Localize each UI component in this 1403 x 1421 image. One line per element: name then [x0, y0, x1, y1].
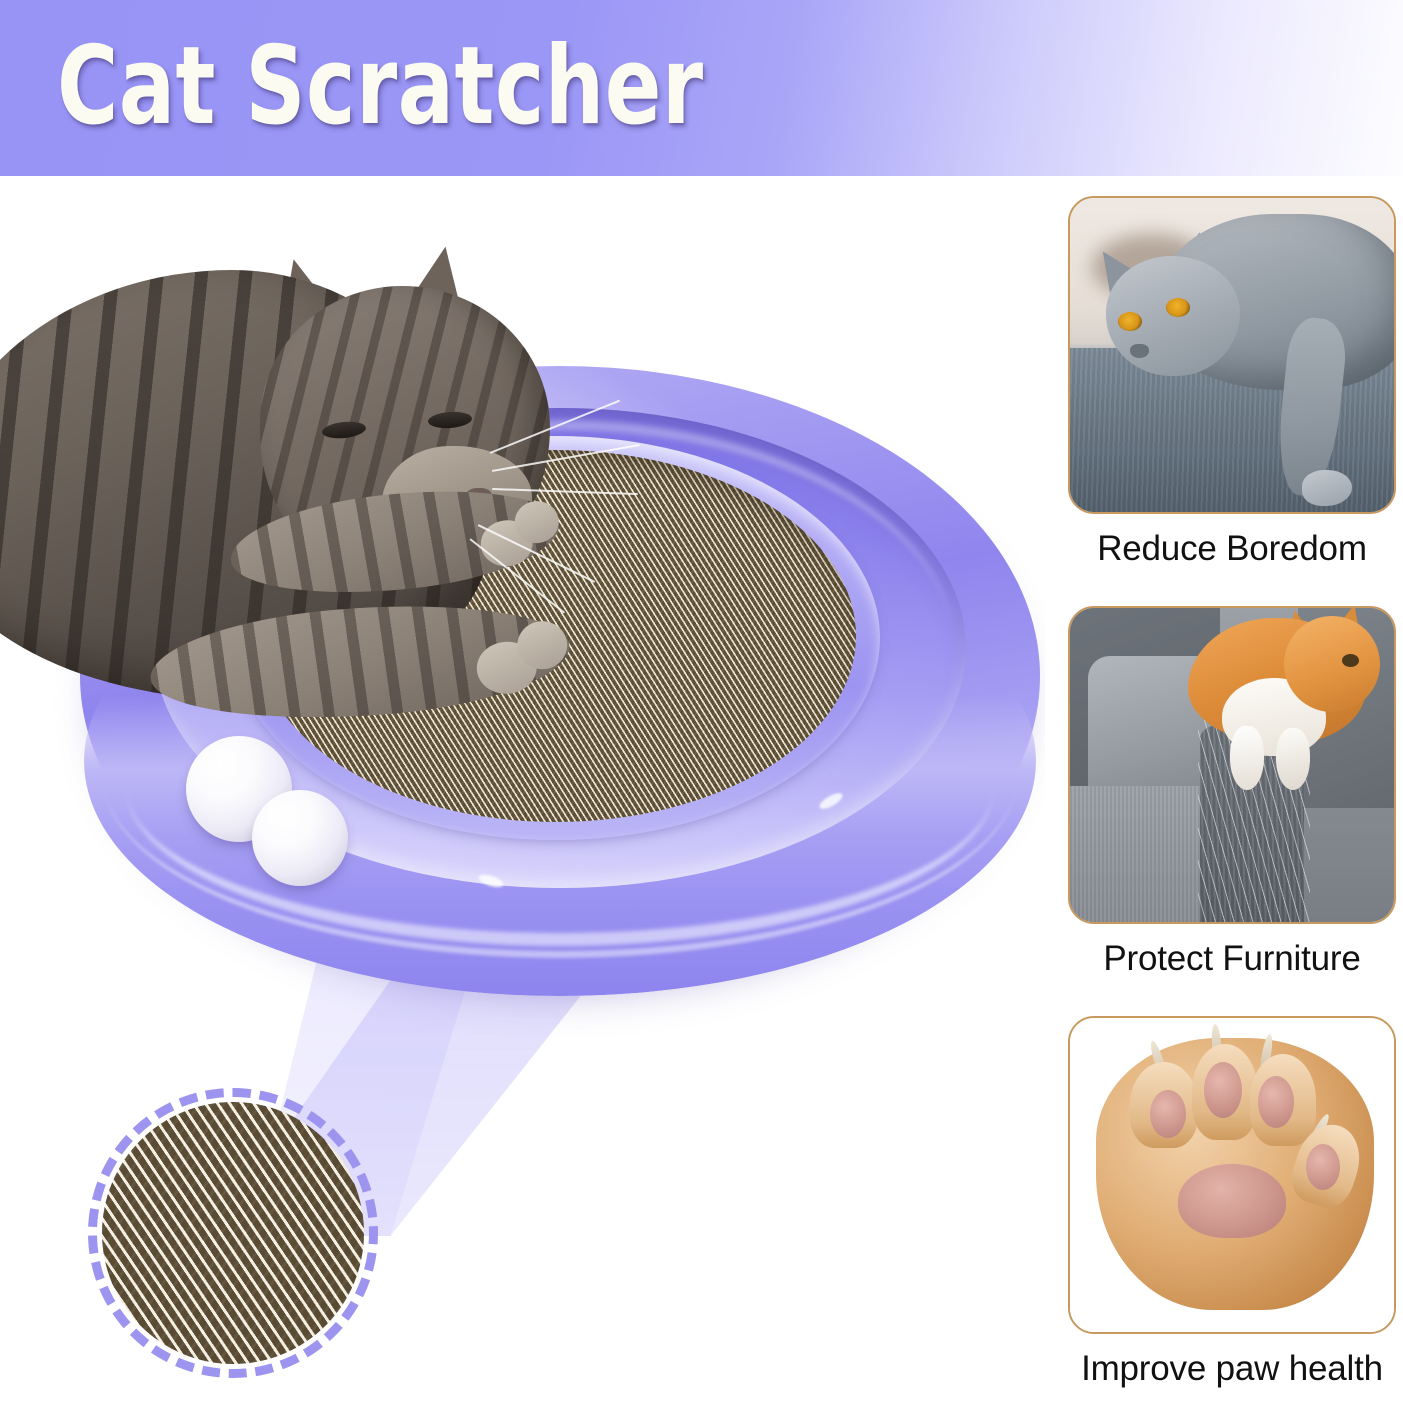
card2-cat-head — [1284, 616, 1380, 712]
cardboard-detail-circle — [88, 1088, 378, 1378]
card3-metacarpal-pad — [1178, 1164, 1286, 1238]
feature-card-list: Reduce Boredom Protect Furnit — [1058, 196, 1403, 1421]
card2-cat-paw — [1276, 728, 1310, 790]
feature-card-reduce-boredom[interactable]: Reduce Boredom — [1068, 196, 1396, 570]
header-banner: Cat Scratcher — [0, 0, 1403, 176]
feature-card-protect-furniture[interactable]: Protect Furniture — [1068, 606, 1396, 980]
page-title: Cat Scratcher — [57, 23, 704, 151]
card3-toe-pad — [1150, 1090, 1186, 1138]
card-caption: Reduce Boredom — [1068, 528, 1396, 570]
card1-cat-eye — [1166, 298, 1190, 317]
detail-dashed-ring — [88, 1088, 378, 1378]
card1-cat-eye — [1118, 312, 1142, 331]
card-image-frame — [1068, 1016, 1396, 1334]
card3-toe-pad — [1204, 1062, 1242, 1118]
hero-product-stage — [0, 176, 1045, 1421]
tabby-cat-photo — [0, 256, 690, 836]
card-caption: Improve paw health — [1068, 1348, 1396, 1390]
product-marketing-image: Cat Scratcher — [0, 0, 1403, 1421]
card-image-frame — [1068, 196, 1396, 514]
card1-cat-nose — [1130, 344, 1149, 358]
card2-cat-eye — [1342, 654, 1359, 667]
card2-cat-paw — [1230, 726, 1264, 790]
card3-toe-pad — [1258, 1076, 1294, 1128]
card3-toe-pad — [1306, 1144, 1340, 1190]
card-image-frame — [1068, 606, 1396, 924]
card-caption: Protect Furniture — [1068, 938, 1396, 980]
feature-card-improve-paw-health[interactable]: Improve paw health — [1068, 1016, 1396, 1390]
